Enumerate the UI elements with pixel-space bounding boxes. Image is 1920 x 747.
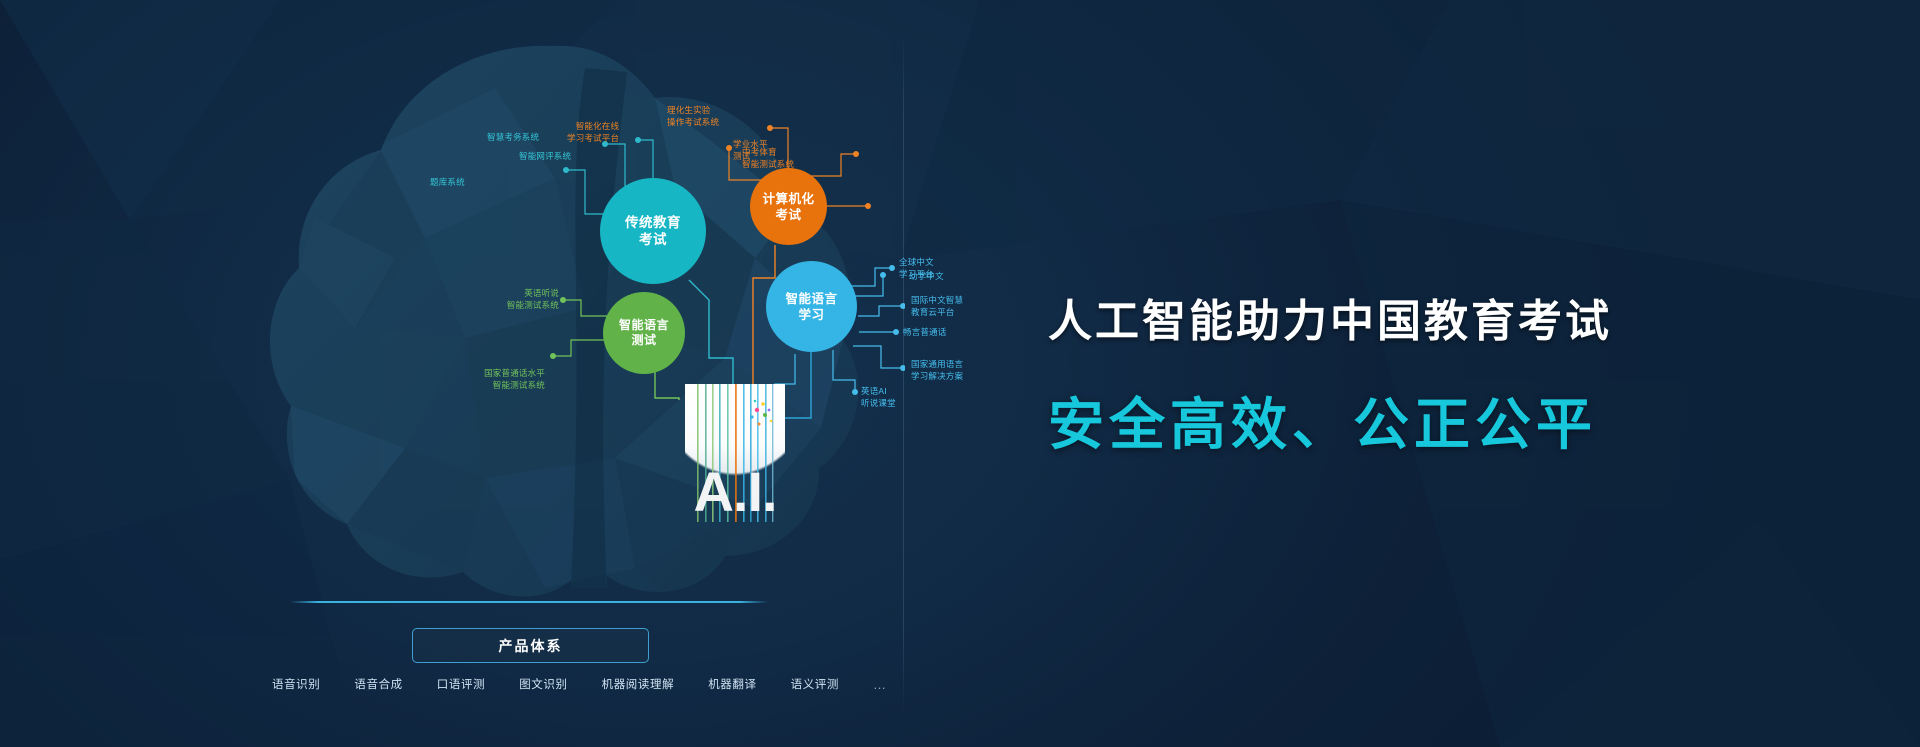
node-label-line2: 学习 <box>798 307 824 323</box>
label-young-chinese: 幼学中文 <box>909 270 944 282</box>
tag-machine-translation[interactable]: 机器翻译 <box>708 676 756 692</box>
node-label-line1: 计算机化 <box>762 191 814 207</box>
tag-more-ellipsis[interactable]: … <box>873 677 888 692</box>
label-line1: 中考体育 <box>742 146 794 158</box>
label-smart-exam-admin: 智慧考务系统 <box>487 131 539 143</box>
tag-image-text-recognition[interactable]: 图文识别 <box>519 676 567 692</box>
label-line1: 英语听说 <box>401 287 559 299</box>
label-line2: 智能测试系统 <box>742 158 794 170</box>
product-system-button[interactable]: 产品体系 <box>412 628 649 663</box>
node-label-line2: 考试 <box>775 207 801 223</box>
label-line2: 教育云平台 <box>911 306 963 318</box>
tag-oral-evaluation[interactable]: 口语评测 <box>437 676 485 692</box>
label-line1: 畅言普通话 <box>903 326 947 338</box>
label-line2: 学习考试平台 <box>567 132 619 144</box>
label-science-lab-exam-system: 理化生实验 操作考试系统 <box>667 104 719 129</box>
label-line1: 英语AI <box>861 385 896 397</box>
tag-machine-reading-comprehension[interactable]: 机器阅读理解 <box>602 676 675 692</box>
label-putonghua-proficiency-test: 国家普通话水平 智能测试系统 <box>383 367 545 392</box>
label-line2: 智能测试系统 <box>401 299 559 311</box>
label-line2: 智能测试系统 <box>383 379 545 391</box>
label-intl-chinese-cloud-platform: 国际中文智慧 教育云平台 <box>911 294 963 319</box>
label-line1: 题库系统 <box>430 176 465 188</box>
label-smart-marking: 智能网评系统 <box>519 150 571 162</box>
node-label-line1: 传统教育 <box>625 214 681 231</box>
tag-speech-recognition[interactable]: 语音识别 <box>272 676 320 692</box>
label-line1: 智能化在线 <box>567 120 619 132</box>
headline-primary: 人工智能助力中国教育考试 <box>1048 285 1612 349</box>
label-line1: 幼学中文 <box>909 270 944 282</box>
label-question-bank: 题库系统 <box>430 176 465 188</box>
headline-secondary: 安全高效、公正公平 <box>1048 380 1597 461</box>
hero-banner: 传统教育 考试 计算机化 考试 智能语言 测试 智能语言 学习 智慧考务系统 智… <box>0 0 1920 747</box>
node-language-learning[interactable]: 智能语言 学习 <box>766 261 857 352</box>
node-label-line1: 智能语言 <box>785 291 837 307</box>
label-line1: 全球中文 <box>899 256 934 268</box>
node-traditional-exam[interactable]: 传统教育 考试 <box>600 178 706 284</box>
ai-trunk: A.I. <box>685 384 785 522</box>
tag-speech-synthesis[interactable]: 语音合成 <box>354 676 402 692</box>
label-line1: 智慧考务系统 <box>487 131 539 143</box>
headline-block: 人工智能助力中国教育考试 安全高效、公正公平 <box>1048 0 1748 747</box>
node-label-line1: 智能语言 <box>619 318 669 333</box>
label-line2: 学习解决方案 <box>911 370 963 382</box>
node-label-line2: 测试 <box>631 333 656 348</box>
label-changyan-putonghua: 畅言普通话 <box>903 326 947 338</box>
label-line2: 操作考试系统 <box>667 116 719 128</box>
node-label-line2: 考试 <box>639 231 667 248</box>
label-english-ai-classroom: 英语AI 听说课堂 <box>861 385 896 410</box>
ai-wordmark: A.I. <box>685 464 785 520</box>
capability-tag-list: 语音识别 语音合成 口语评测 图文识别 机器阅读理解 机器翻译 语义评测 … <box>255 676 905 692</box>
label-line2: 听说课堂 <box>861 397 896 409</box>
label-online-learning-exam-platform: 智能化在线 学习考试平台 <box>567 120 619 145</box>
horizontal-rule <box>290 601 768 603</box>
node-language-testing[interactable]: 智能语言 测试 <box>603 292 685 374</box>
brain-infographic: 传统教育 考试 计算机化 考试 智能语言 测试 智能语言 学习 智慧考务系统 智… <box>255 28 905 728</box>
label-english-listening-speaking-test: 英语听说 智能测试系统 <box>401 287 559 312</box>
label-pe-exam-smart-test-system: 中考体育 智能测试系统 <box>742 146 794 171</box>
label-line1: 理化生实验 <box>667 104 719 116</box>
label-line1: 智能网评系统 <box>519 150 571 162</box>
label-national-language-solution: 国家通用语言 学习解决方案 <box>911 358 963 383</box>
tag-semantic-evaluation[interactable]: 语义评测 <box>791 676 839 692</box>
label-line1: 国家普通话水平 <box>383 367 545 379</box>
label-line1: 国际中文智慧 <box>911 294 963 306</box>
label-line1: 国家通用语言 <box>911 358 963 370</box>
node-computerized-exam[interactable]: 计算机化 考试 <box>750 168 827 245</box>
